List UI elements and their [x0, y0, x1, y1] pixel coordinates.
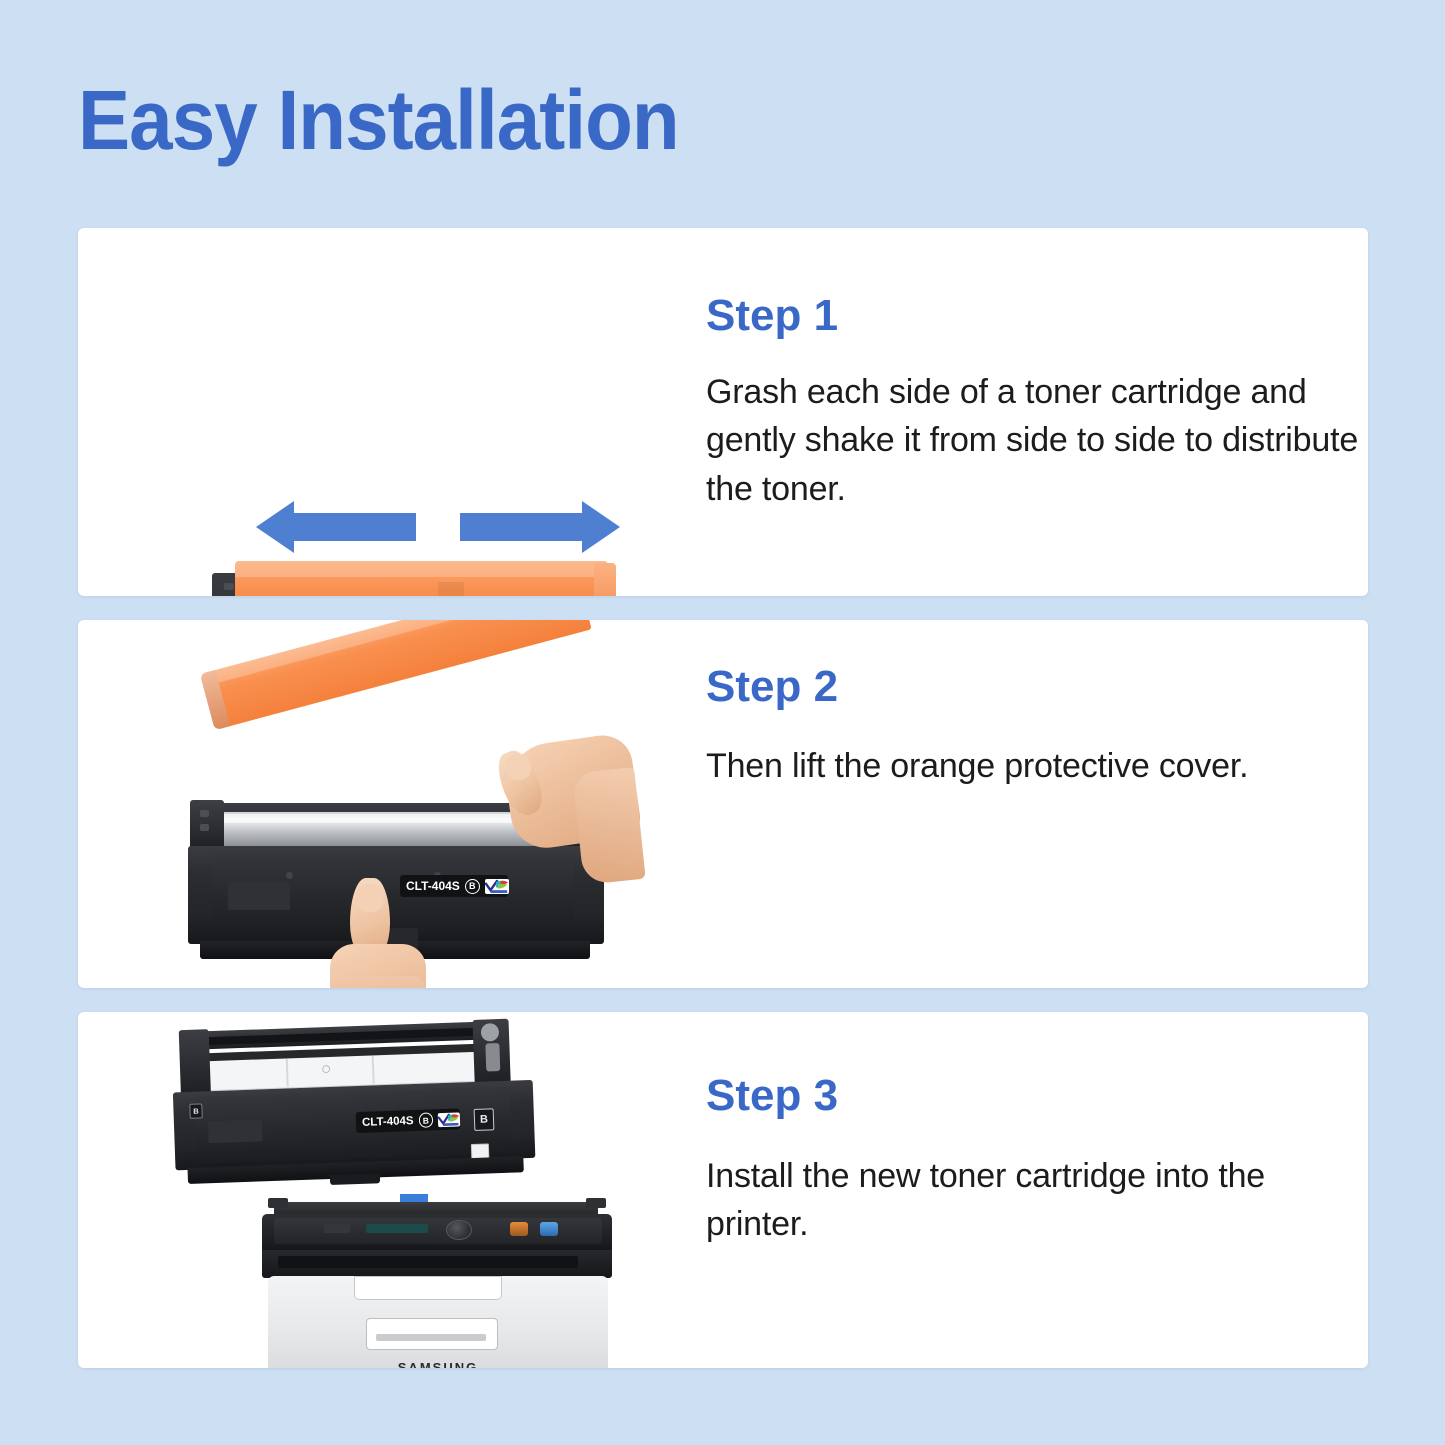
step-3-heading: Step 3 [706, 1074, 838, 1118]
step-3-text: Step 3 Install the new toner cartridge i… [638, 1012, 1368, 1368]
step-card-3: CLT-404S B B [78, 1012, 1368, 1368]
brand-logo-icon [438, 1112, 460, 1127]
cartridge-label: CLT-404S B [356, 1108, 461, 1133]
step-2-body: Then lift the orange protective cover. [706, 742, 1306, 790]
step-3-illustration: CLT-404S B B [78, 1012, 638, 1368]
panel-button-left [324, 1224, 350, 1233]
step-1-text: Step 1 Grash each side of a toner cartri… [638, 228, 1368, 596]
cartridge-side-badge-right: B [474, 1108, 495, 1131]
cartridge-side-badge-left: B [189, 1103, 203, 1118]
page-title: Easy Installation [78, 78, 679, 162]
cartridge-label: CLT-404S B [400, 875, 508, 897]
printer-brand-label: SAMSUNG [268, 1360, 608, 1368]
panel-nav-button [446, 1220, 472, 1240]
brand-logo-icon [485, 879, 509, 894]
installation-guide-page: Easy Installation [0, 0, 1445, 1445]
cartridge-model-text: CLT-404S [362, 1115, 414, 1129]
step-1-body: Grash each side of a toner cartridge and… [706, 368, 1368, 513]
cartridge-color-code: B [465, 879, 480, 894]
step-2-text: Step 2 Then lift the orange protective c… [638, 620, 1368, 988]
step-2-illustration: CLT-404S B [78, 620, 638, 988]
cartridge-color-code: B [418, 1113, 433, 1128]
step-1-illustration: CLT-404S B B [78, 228, 638, 596]
step-1-heading: Step 1 [706, 294, 838, 338]
step-card-1: CLT-404S B B [78, 228, 1368, 596]
step-2-heading: Step 2 [706, 665, 838, 709]
panel-button-start [540, 1222, 558, 1236]
panel-button-stop [510, 1222, 528, 1236]
step-card-2: CLT-404S B [78, 620, 1368, 988]
step-3-body: Install the new toner cartridge into the… [706, 1152, 1306, 1249]
cartridge-model-text: CLT-404S [406, 879, 460, 893]
panel-display [366, 1224, 428, 1233]
orange-protective-cover-lifted [200, 620, 593, 734]
